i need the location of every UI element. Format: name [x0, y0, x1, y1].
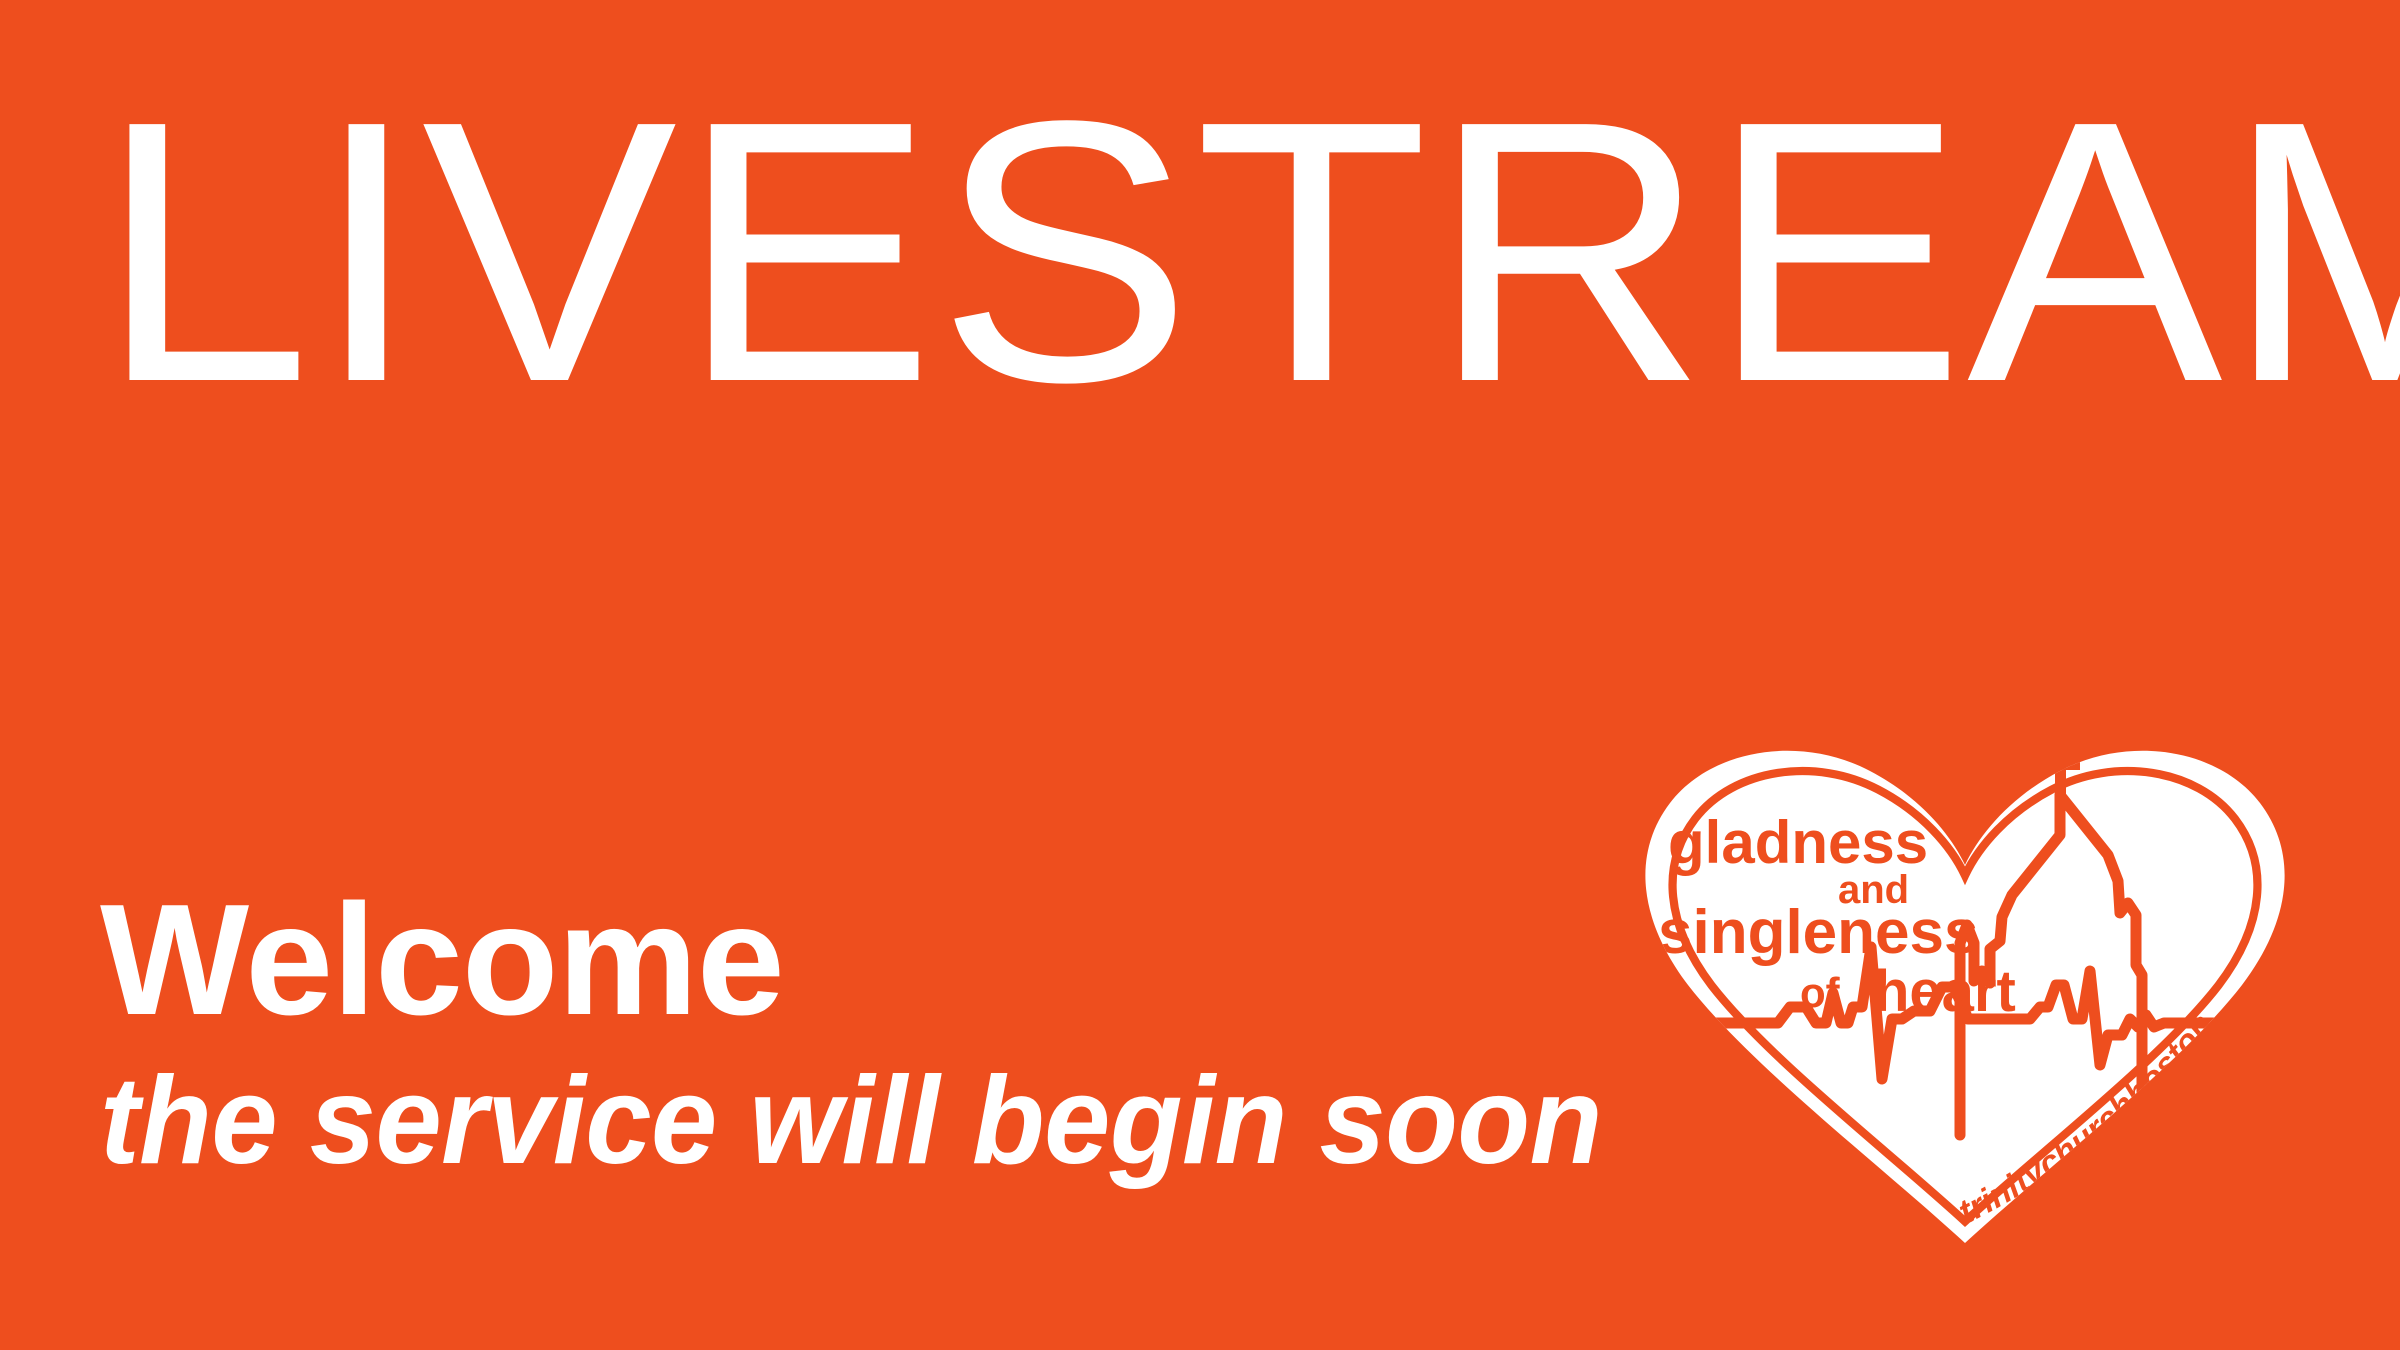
livestream-slide: LIVESTREAM Welcome the service will begi…: [0, 0, 2400, 1350]
trinity-church-boston-logo: gladness and singleness of heart trinity…: [1630, 735, 2300, 1255]
welcome-block: Welcome the service will begin soon: [100, 880, 1600, 1196]
tagline-gladness: gladness: [1668, 809, 1928, 876]
tagline-singleness: singleness: [1658, 898, 1978, 967]
tagline-heart: heart: [1874, 959, 2016, 1024]
welcome-heading: Welcome: [100, 880, 1600, 1040]
tagline-of: of: [1800, 969, 1841, 1016]
page-title: LIVESTREAM: [98, 86, 2385, 416]
welcome-subheading: the service will begin soon: [100, 1040, 1540, 1196]
